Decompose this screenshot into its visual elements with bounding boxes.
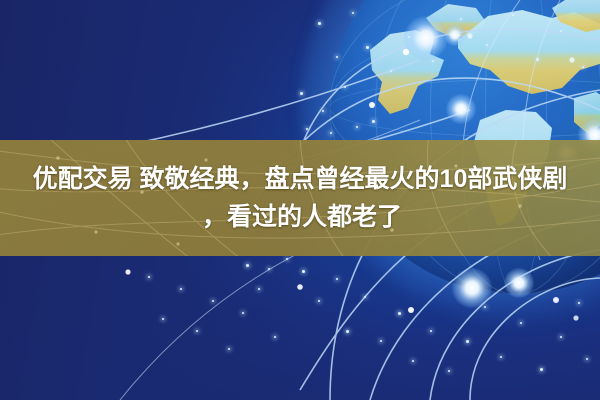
star-glow-large bbox=[452, 268, 492, 308]
caption-text-block: 优配交易 致敬经典，盘点曾经最火的10部武侠剧 ，看过的人都老了 bbox=[0, 140, 600, 256]
caption-line-1: 优配交易 致敬经典，盘点曾经最火的10部武侠剧 bbox=[0, 160, 600, 198]
banner-image: 优配交易 致敬经典，盘点曾经最火的10部武侠剧 ，看过的人都老了 bbox=[0, 0, 600, 400]
caption-line-2: ，看过的人都老了 bbox=[0, 198, 600, 236]
star-glow-large bbox=[404, 16, 448, 60]
star-glow-large bbox=[446, 94, 476, 124]
star-glow-large bbox=[504, 268, 534, 298]
star-glow-large bbox=[444, 24, 466, 46]
